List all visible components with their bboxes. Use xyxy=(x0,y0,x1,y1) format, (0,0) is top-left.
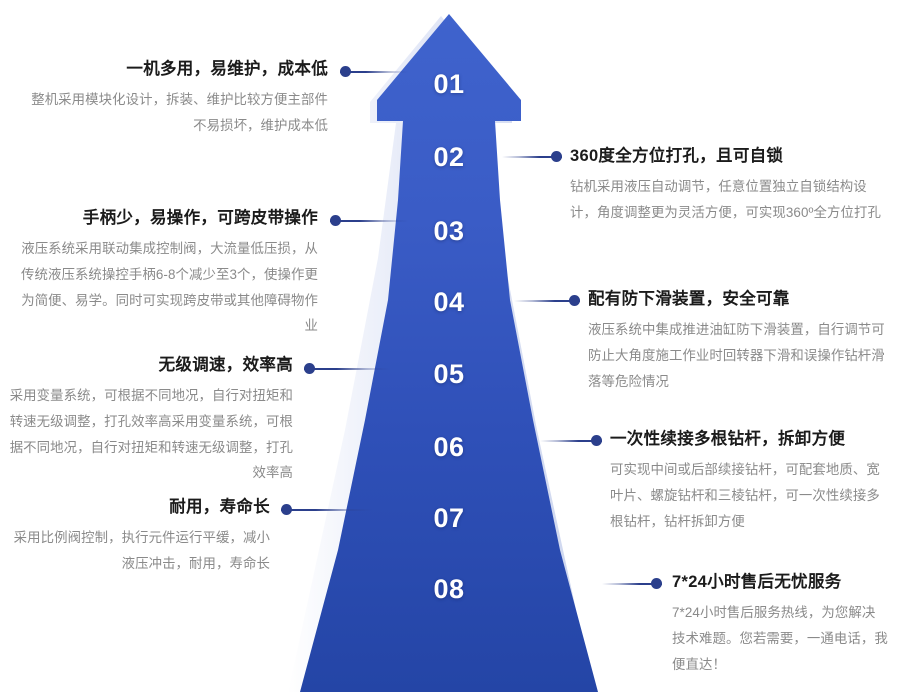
step-title-05: 无级调速，效率高 xyxy=(8,354,293,376)
connector-07 xyxy=(281,504,372,515)
step-number-07: 07 xyxy=(389,503,509,534)
connector-02 xyxy=(502,151,562,162)
step-item-08: 7*24小时售后无忧服务 7*24小时售后服务热线，为您解决技术难题。您若需要，… xyxy=(672,571,888,677)
connector-05 xyxy=(304,363,390,374)
step-title-07: 耐用，寿命长 xyxy=(8,496,270,518)
connector-08 xyxy=(602,578,662,589)
step-title-01: 一机多用，易维护，成本低 xyxy=(18,58,328,80)
step-body-01: 整机采用模块化设计，拆装、维护比较方便主部件不易损坏，维护成本低 xyxy=(18,87,328,138)
step-title-04: 配有防下滑装置，安全可靠 xyxy=(588,288,888,310)
connector-04 xyxy=(514,295,580,306)
step-number-08: 08 xyxy=(389,574,509,605)
connector-01 xyxy=(340,66,408,77)
step-body-04: 液压系统中集成推进油缸防下滑装置，自行调节可防止大角度施工作业时回转器下滑和误操… xyxy=(588,317,888,394)
infographic-canvas: 01 02 03 04 05 06 07 08 一机多用，易维护，成本低 整机采… xyxy=(0,0,898,692)
step-item-03: 手柄少，易操作，可跨皮带操作 液压系统采用联动集成控制阀，大流量低压损，从传统液… xyxy=(8,207,318,339)
step-title-03: 手柄少，易操作，可跨皮带操作 xyxy=(8,207,318,229)
step-body-03: 液压系统采用联动集成控制阀，大流量低压损，从传统液压系统操控手柄6-8个减少至3… xyxy=(8,236,318,339)
step-title-08: 7*24小时售后无忧服务 xyxy=(672,571,888,593)
step-item-04: 配有防下滑装置，安全可靠 液压系统中集成推进油缸防下滑装置，自行调节可防止大角度… xyxy=(588,288,888,394)
connector-06 xyxy=(540,435,602,446)
step-number-05: 05 xyxy=(389,359,509,390)
step-body-08: 7*24小时售后服务热线，为您解决技术难题。您若需要，一通电话，我便直达！ xyxy=(672,600,888,677)
step-item-05: 无级调速，效率高 采用变量系统，可根据不同地况，自行对扭矩和转速无级调整，打孔效… xyxy=(8,354,293,486)
step-item-01: 一机多用，易维护，成本低 整机采用模块化设计，拆装、维护比较方便主部件不易损坏，… xyxy=(18,58,328,139)
step-item-07: 耐用，寿命长 采用比例阀控制，执行元件运行平缓，减小液压冲击，耐用，寿命长 xyxy=(8,496,270,577)
step-item-02: 360度全方位打孔，且可自锁 钻机采用液压自动调节，任意位置独立自锁结构设计，角… xyxy=(570,145,888,226)
step-body-05: 采用变量系统，可根据不同地况，自行对扭矩和转速无级调整，打孔效率高采用变量系统，… xyxy=(8,383,293,486)
step-body-07: 采用比例阀控制，执行元件运行平缓，减小液压冲击，耐用，寿命长 xyxy=(8,525,270,576)
step-number-04: 04 xyxy=(389,287,509,318)
step-body-02: 钻机采用液压自动调节，任意位置独立自锁结构设计，角度调整更为灵活方便，可实现36… xyxy=(570,174,888,225)
connector-03 xyxy=(330,215,408,226)
step-item-06: 一次性续接多根钻杆，拆卸方便 可实现中间或后部续接钻杆，可配套地质、宽叶片、螺旋… xyxy=(610,428,888,534)
step-number-06: 06 xyxy=(389,432,509,463)
step-title-06: 一次性续接多根钻杆，拆卸方便 xyxy=(610,428,888,450)
step-number-02: 02 xyxy=(389,142,509,173)
step-title-02: 360度全方位打孔，且可自锁 xyxy=(570,145,888,167)
step-body-06: 可实现中间或后部续接钻杆，可配套地质、宽叶片、螺旋钻杆和三棱钻杆，可一次性续接多… xyxy=(610,457,888,534)
